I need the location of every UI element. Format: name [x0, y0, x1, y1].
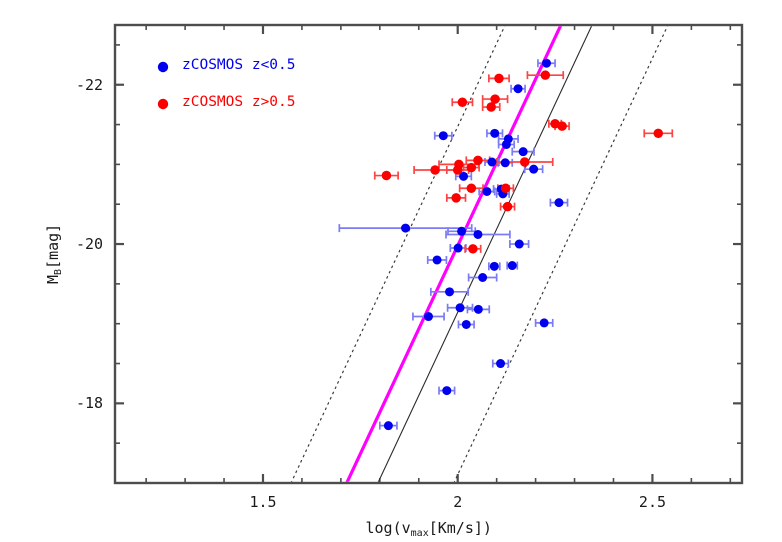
legend-marker-zgt05: [158, 99, 168, 109]
data-point: [490, 262, 499, 271]
data-point: [490, 129, 499, 138]
data-point: [519, 147, 528, 156]
xtick-label-3: 2.5: [639, 493, 666, 511]
data-point: [474, 305, 483, 314]
data-point: [454, 244, 463, 253]
line-reference-solid-black: [378, 25, 592, 483]
data-point: [557, 121, 567, 131]
data-point: [445, 287, 454, 296]
data-point: [482, 187, 491, 196]
data-point: [456, 303, 465, 312]
data-point: [401, 224, 410, 233]
data-point: [541, 70, 551, 80]
ytick-label-3: -18: [76, 394, 103, 412]
data-point: [494, 74, 504, 84]
data-point: [520, 157, 530, 167]
ytick-label-1: -22: [76, 76, 103, 94]
data-point: [451, 193, 461, 203]
data-point: [442, 386, 451, 395]
data-point: [457, 227, 466, 236]
data-point: [439, 131, 448, 140]
data-point: [473, 156, 483, 166]
data-point: [453, 165, 463, 175]
datapoints-zgt05: [382, 70, 663, 253]
line-fit-magenta: [347, 25, 561, 483]
data-point: [486, 102, 496, 112]
data-point: [502, 140, 511, 149]
y-axis-title-prefix: M: [44, 275, 62, 284]
x-axis-title-subscript: max: [411, 528, 429, 539]
data-point: [487, 158, 496, 167]
line-scatter-bound-upper-dotted: [291, 25, 505, 483]
data-point: [478, 273, 487, 282]
data-point: [540, 318, 549, 327]
data-point: [508, 261, 517, 270]
y-axis-title-subscript: B: [53, 269, 64, 275]
data-point: [462, 320, 471, 329]
scatter-plot-figure: 1.5 2 2.5 -22 -20 -18 log(vmax[Km/s]) MB…: [0, 0, 782, 542]
data-point: [654, 129, 664, 139]
legend-marker-zlt05: [158, 62, 168, 72]
data-point: [501, 158, 510, 167]
x-axis-title-unit: [Km/s]): [429, 519, 492, 537]
data-point: [529, 165, 538, 174]
x-axis-title-prefix: log(: [366, 519, 402, 537]
data-point: [468, 244, 478, 254]
data-point: [467, 163, 477, 173]
data-point: [458, 98, 468, 108]
data-point: [503, 202, 513, 212]
line-scatter-bound-lower-dotted: [454, 25, 668, 483]
y-axis-title-unit: [mag]: [44, 224, 62, 269]
data-point: [430, 165, 440, 175]
y-axis-title: MB[mag]: [44, 224, 62, 284]
data-point: [501, 184, 511, 194]
fit-lines: [291, 25, 668, 483]
xtick-label-1: 1.5: [249, 493, 276, 511]
xtick-label-2: 2: [453, 493, 462, 511]
data-point: [515, 240, 524, 249]
legend-label-zlt05: zCOSMOS z<0.5: [182, 57, 296, 73]
legend-label-zgt05: zCOSMOS z>0.5: [182, 94, 296, 110]
data-point: [467, 184, 477, 194]
data-point: [424, 312, 433, 321]
x-axis-title: log(vmax[Km/s]): [366, 519, 492, 537]
data-point: [496, 359, 505, 368]
ytick-label-2: -20: [76, 235, 103, 253]
data-point: [384, 421, 393, 430]
data-point: [514, 84, 523, 93]
data-point: [382, 171, 392, 181]
plot-canvas: [0, 0, 782, 542]
data-point: [433, 255, 442, 264]
data-point: [554, 198, 563, 207]
legend-markers: [158, 62, 168, 109]
data-point: [542, 59, 551, 68]
x-axis-title-var: v: [402, 519, 411, 537]
data-point: [473, 230, 482, 239]
errorbars-zlt05: [339, 59, 567, 429]
